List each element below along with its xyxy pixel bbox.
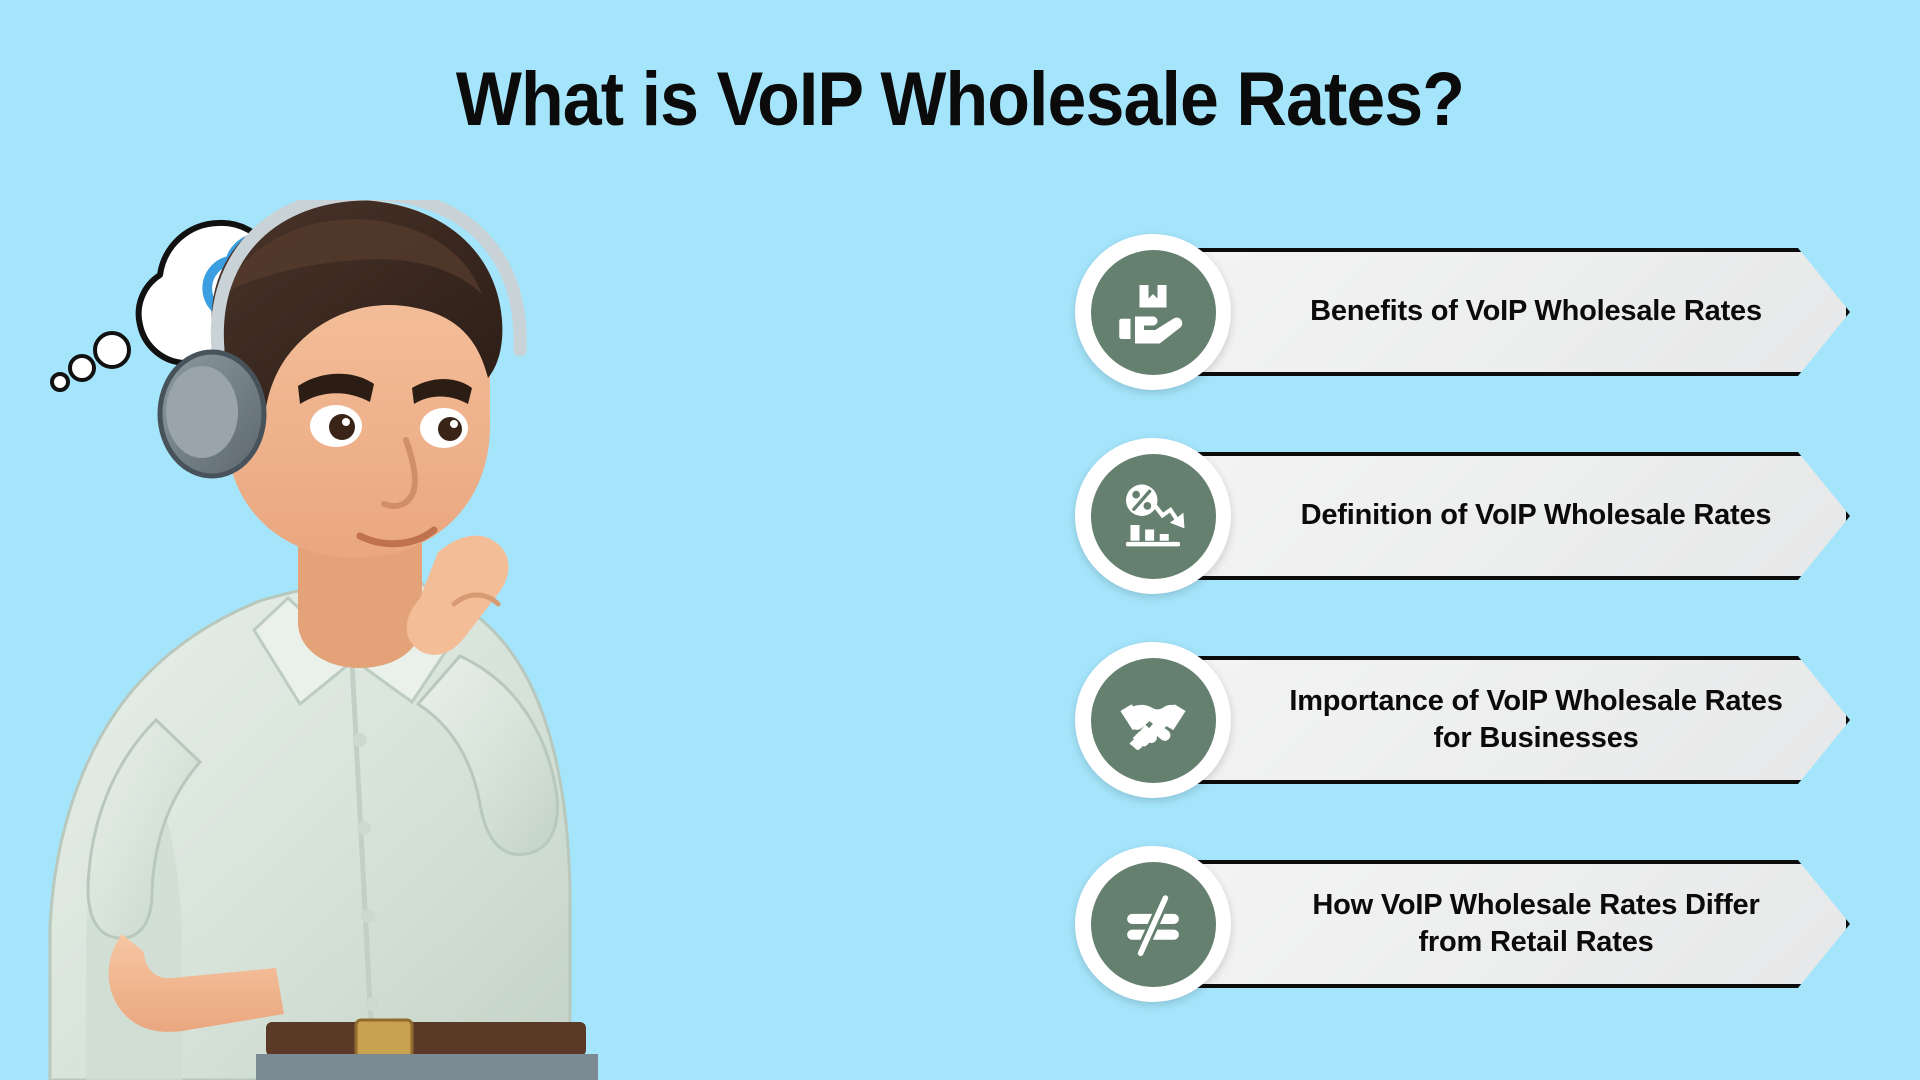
card-shape[interactable]: Benefits of VoIP Wholesale Rates bbox=[1150, 248, 1850, 376]
not-equal-icon bbox=[1117, 888, 1189, 960]
illustration-man-thinking bbox=[30, 200, 820, 1080]
hand-holding-box-icon bbox=[1117, 276, 1189, 348]
topic-card-importance[interactable]: Importance of VoIP Wholesale Rates for B… bbox=[1075, 656, 1865, 784]
icon-disc bbox=[1091, 250, 1216, 375]
icon-badge bbox=[1075, 438, 1231, 594]
character-illustration bbox=[30, 200, 820, 1080]
topic-card-definition[interactable]: Definition of VoIP Wholesale Rates bbox=[1075, 452, 1865, 580]
topic-card-difference[interactable]: How VoIP Wholesale Rates Differ from Ret… bbox=[1075, 860, 1865, 988]
card-label: Importance of VoIP Wholesale Rates for B… bbox=[1286, 683, 1786, 757]
icon-disc bbox=[1091, 454, 1216, 579]
card-shape[interactable]: Definition of VoIP Wholesale Rates bbox=[1150, 452, 1850, 580]
card-shape[interactable]: Importance of VoIP Wholesale Rates for B… bbox=[1150, 656, 1850, 784]
percent-declining-chart-icon bbox=[1117, 480, 1189, 552]
card-label: Benefits of VoIP Wholesale Rates bbox=[1310, 293, 1762, 330]
card-shape[interactable]: How VoIP Wholesale Rates Differ from Ret… bbox=[1150, 860, 1850, 988]
icon-badge bbox=[1075, 846, 1231, 1002]
icon-badge bbox=[1075, 642, 1231, 798]
icon-disc bbox=[1091, 658, 1216, 783]
topic-card-benefits[interactable]: Benefits of VoIP Wholesale Rates bbox=[1075, 248, 1865, 376]
page-title: What is VoIP Wholesale Rates? bbox=[77, 56, 1843, 143]
topic-card-list: Benefits of VoIP Wholesale Rates Definit… bbox=[1075, 248, 1865, 1064]
icon-disc bbox=[1091, 862, 1216, 987]
icon-badge bbox=[1075, 234, 1231, 390]
card-label: Definition of VoIP Wholesale Rates bbox=[1301, 497, 1772, 534]
card-label: How VoIP Wholesale Rates Differ from Ret… bbox=[1286, 887, 1786, 961]
handshake-icon bbox=[1117, 684, 1189, 756]
